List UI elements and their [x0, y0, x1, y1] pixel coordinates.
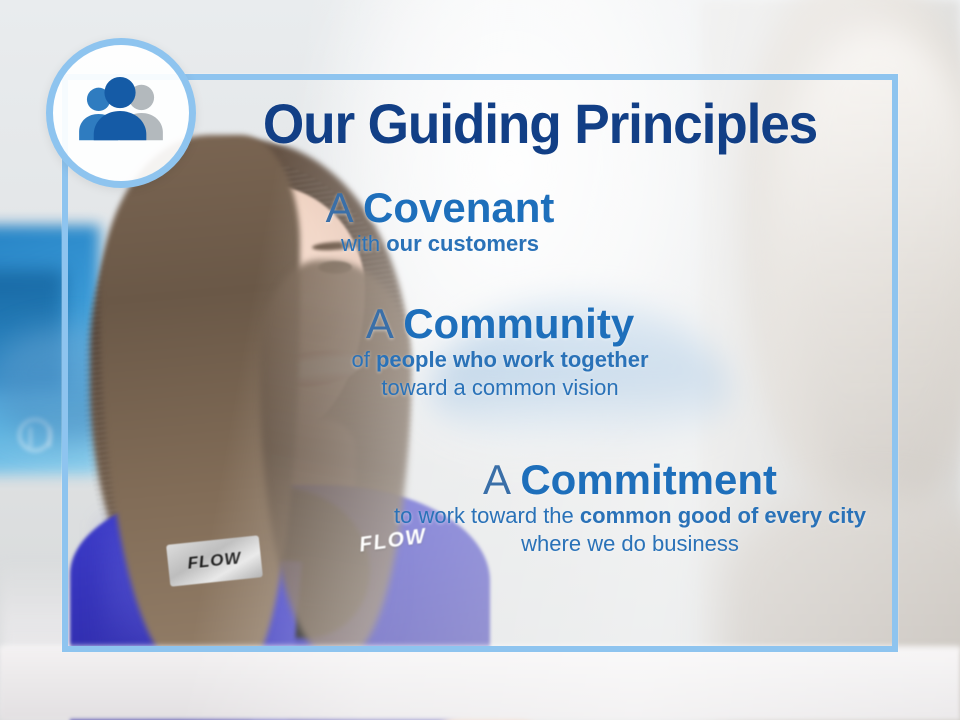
decorative-frame	[62, 74, 898, 652]
people-group-icon	[72, 76, 170, 150]
desk-surface	[0, 648, 960, 720]
poster-canvas: FLOW FLOW Our Guiding Pr	[0, 0, 960, 720]
people-badge	[46, 38, 196, 188]
